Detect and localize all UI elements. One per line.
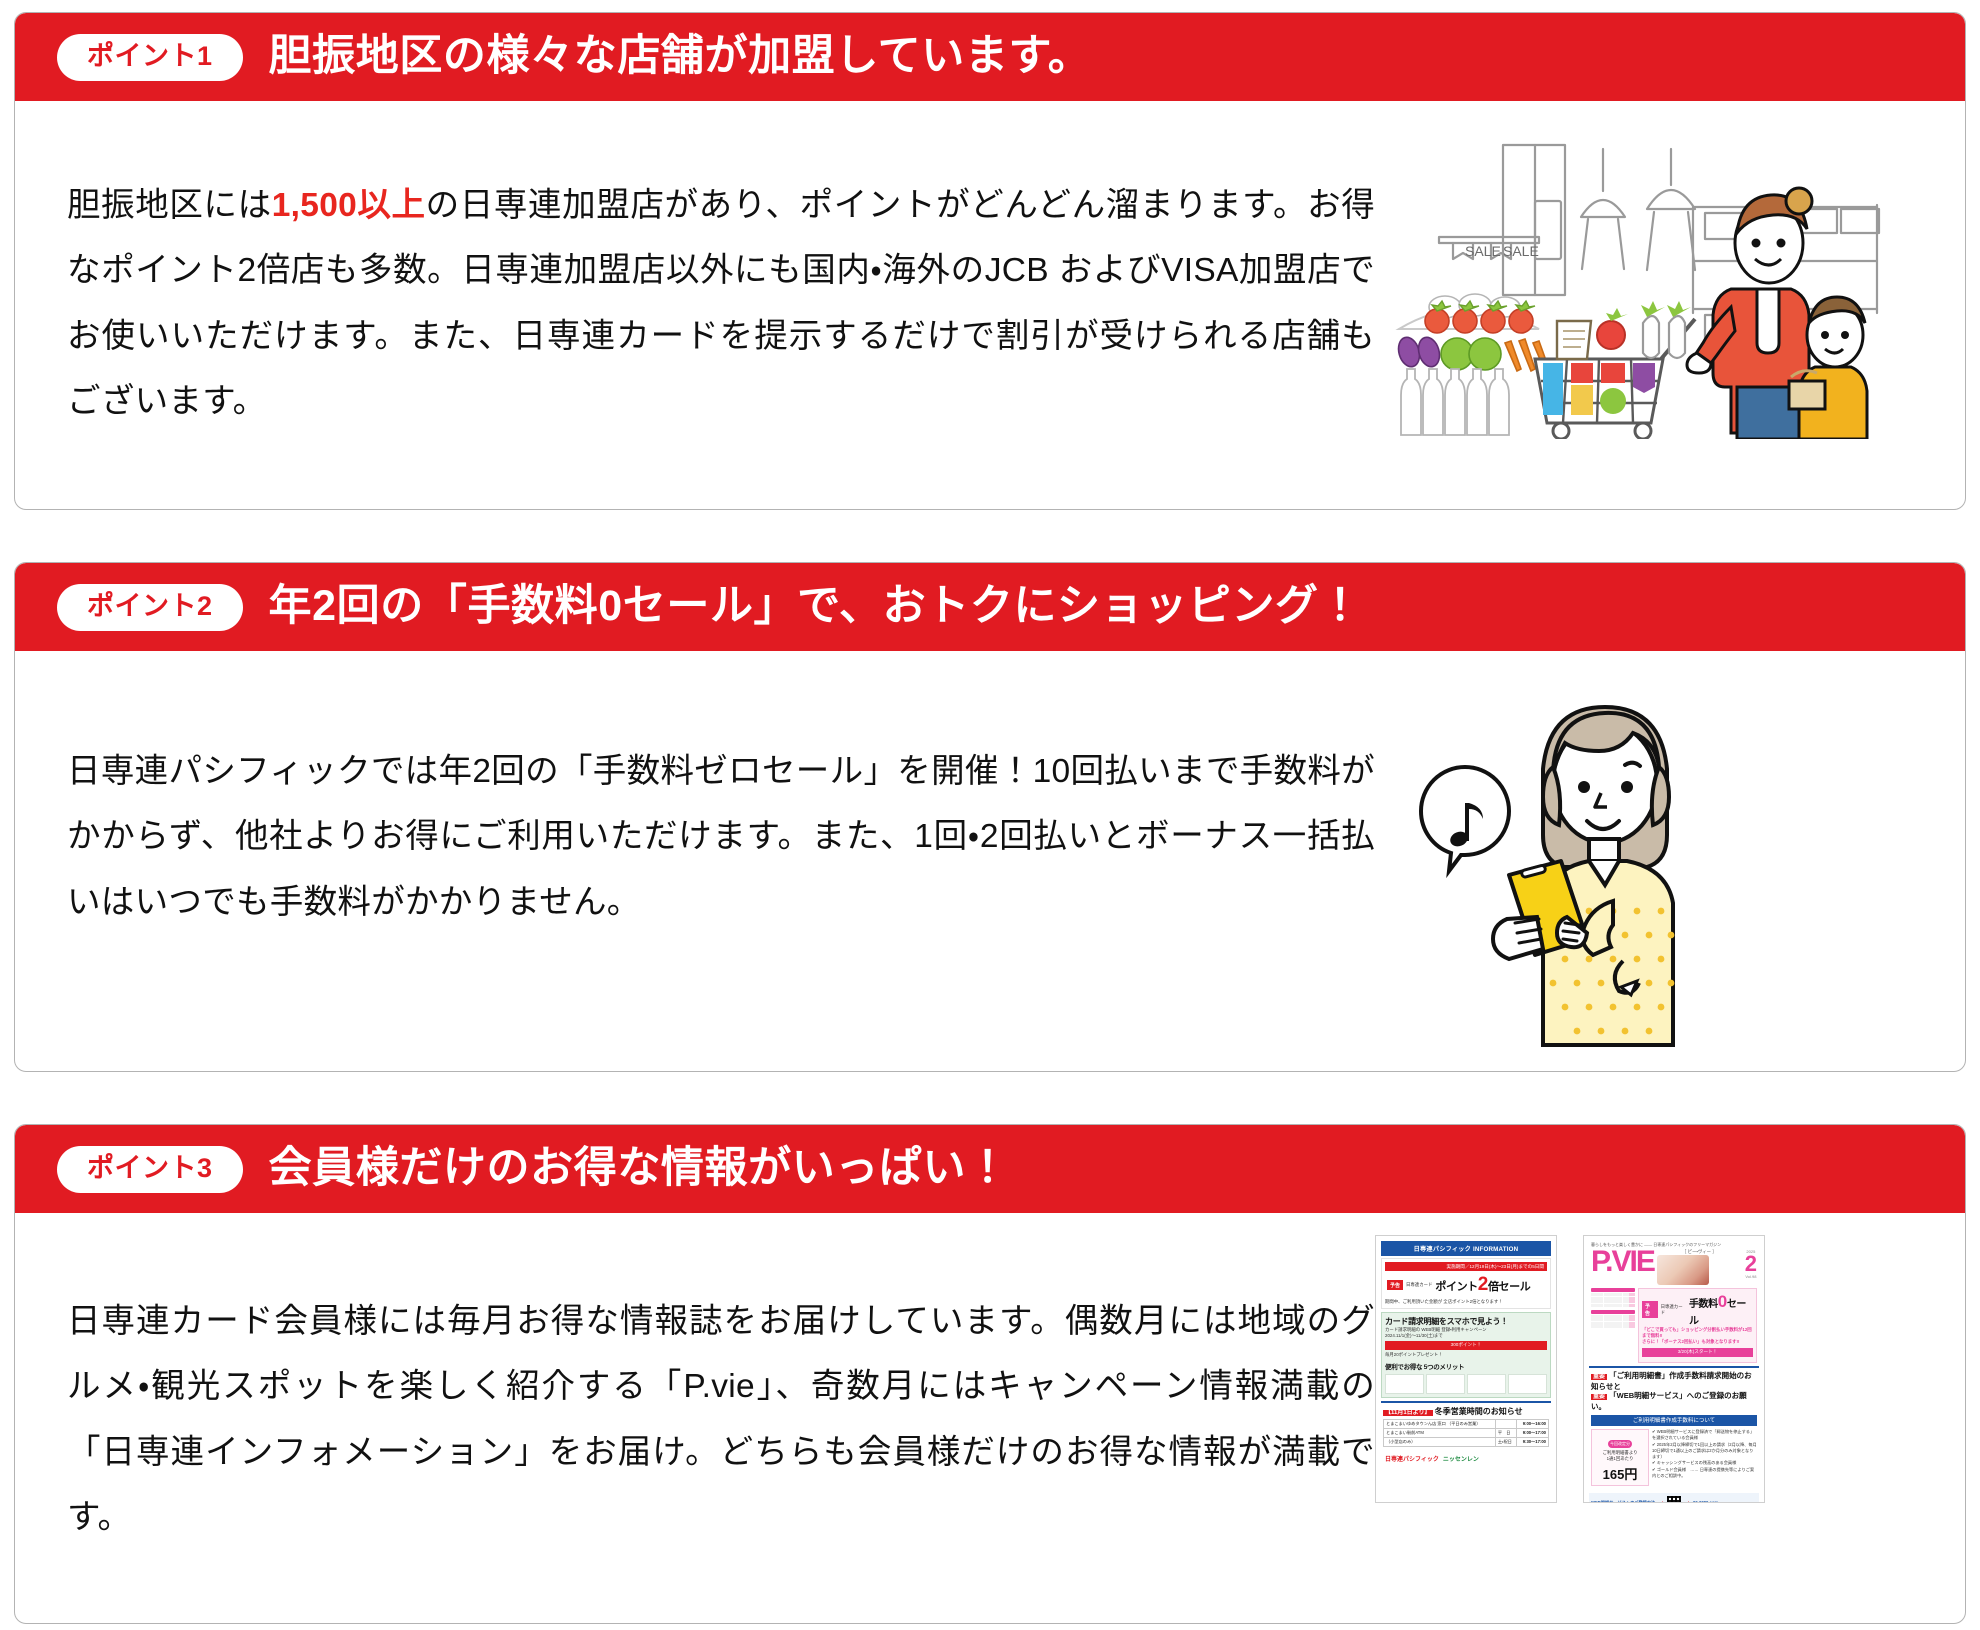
leaflet-information-footer: 日専連パシフィック ニッセンレン — [1381, 1454, 1551, 1463]
point-1-title: 胆振地区の様々な店舗が加盟しています。 — [269, 33, 1092, 80]
qr-code-icon — [1667, 1496, 1681, 1503]
pvie-card-label: 日専連カード — [1661, 1304, 1686, 1316]
check-text: WEB明細サービスに登録済で「郵送物を停止する」を選択されている会員様 — [1652, 1429, 1754, 1440]
pvie-hero-note-2: さらに！「ボーナス2回払い」も対象となります!! — [1642, 1339, 1753, 1345]
pvie-hero-pre: 手数料 — [1689, 1299, 1718, 1310]
pvie-tag: 予告 — [1642, 1301, 1658, 1318]
pvie-info-title: 重要 「ご利用明細書」作成手数料請求開始のお知らせと 重要 「WEB明細サービス… — [1591, 1371, 1757, 1412]
leaflet-information-card-label: 日専連カード — [1406, 1282, 1432, 1288]
point-3-title: 会員様だけのお得な情報がいっぱい！ — [269, 1145, 1010, 1192]
point-3-paragraph: 日専連カード会員様には毎月お得な情報誌をお届けしています。偶数月には地域のグルメ… — [67, 1289, 1375, 1550]
leaflet-information-bonus-badge: 300ポイント！ — [1385, 1341, 1547, 1350]
sale-label-1: SALE — [1465, 243, 1501, 259]
hero-pre: ポイント — [1435, 1281, 1477, 1293]
cal-day — [1610, 1304, 1616, 1307]
pvie-zero-fee-sale: 予告 日専連カード 手数料0セール 「どこで買っても」ショッピング分割払い手数料… — [1638, 1288, 1757, 1363]
check-text: 2025年2月以降締切で1回以上の請求（2月以降、毎月10日締切で1通以上のご請… — [1652, 1442, 1757, 1460]
leaflet-information-tag: 予告 — [1387, 1280, 1403, 1290]
cal-day — [1629, 1304, 1635, 1307]
hours-time: 9:00～17:00 — [1517, 1428, 1549, 1437]
pvie-calendars — [1591, 1288, 1635, 1363]
hours-row: （小型店のみ） 土・祝日 9:30～17:00 — [1384, 1437, 1549, 1446]
point-3-badge: ポイント3 — [57, 1146, 243, 1193]
cal-day — [1623, 1325, 1629, 1328]
cal-day — [1616, 1325, 1622, 1328]
point-card-2: ポイント2 年2回の「手数料0セール」で、おトクにショッピング！ 日専連パシフィ… — [14, 562, 1966, 1072]
leaflet-pvie-calendar-and-sale: 予告 日専連カード 手数料0セール 「どこで買っても」ショッピング分割払い手数料… — [1589, 1285, 1759, 1363]
hours-note — [1495, 1419, 1516, 1428]
hours-row: とまこまい駅前ATM 平 日 9:00～17:00 — [1384, 1428, 1549, 1437]
cal-day — [1597, 1325, 1603, 1328]
hours-place: とまこまい駅前ATM — [1384, 1428, 1496, 1437]
point-3-text-block: 日専連カード会員様には毎月お得な情報誌をお届けしています。偶数月には地域のグルメ… — [15, 1213, 1375, 1550]
point-3-illustration-wrap: 日専連パシフィック INFORMATION 実施期間／12月19日(木)～23日… — [1375, 1235, 1765, 1503]
check-text: ゴールド会員様 …… 日専連の提携先等によりご案内とのご相談中。 — [1652, 1467, 1754, 1478]
pvie-check-item: ✔ 2025年2月以降締切で1回以上の請求（2月以降、毎月10日締切で1通以上の… — [1652, 1442, 1757, 1461]
pvie-issue-vol: Vol.98 — [1745, 1274, 1757, 1279]
sale-label-2: SALE — [1503, 243, 1539, 259]
hours-note: 平 日 — [1495, 1428, 1516, 1437]
point-2-title: 年2回の「手数料0セール」で、おトクにショッピング！ — [269, 583, 1363, 630]
point-2-paragraph: 日専連パシフィックでは年2回の「手数料ゼロセール」を開催！10回払いまで手数料が… — [67, 739, 1375, 935]
supermarket-shopping-illustration: SALE SALE — [1375, 109, 1895, 439]
nissenren-pacific-logo: 日専連パシフィック — [1385, 1454, 1439, 1463]
leaflet-information-web-section: カード請求明細をスマホで見よう！ カード請求明細の WEB明細 登録・利用キャン… — [1381, 1312, 1551, 1398]
leaflet-information-hero: 予告 日専連カード ポイント2倍セール — [1385, 1273, 1547, 1299]
pvie-check-item: ✔ ゴールド会員様 …… 日専連の提携先等によりご案内とのご相談中。 — [1652, 1467, 1757, 1480]
point-1-paragraph: 胆振地区には1,500以上の日専連加盟店があり、ポイントがどんどん溜まります。お… — [67, 173, 1375, 434]
merit-cell — [1467, 1374, 1506, 1394]
pvie-start-badge: 3/20(木)スタート！ — [1642, 1348, 1753, 1357]
pvie-check-item: ✔ WEB明細サービスに登録済で「郵送物を停止する」を選択されている会員様 — [1652, 1429, 1757, 1442]
arrow-right-icon-2: ➡ — [1684, 1499, 1690, 1503]
pvie-zero-hero: 予告 日専連カード 手数料0セール — [1642, 1292, 1753, 1327]
cal-day — [1623, 1304, 1629, 1307]
pvie-logo: P.VIE — [1591, 1249, 1654, 1275]
pvie-hero-big: 0 — [1718, 1292, 1727, 1311]
point-1-text-pre: 胆振地区には — [67, 187, 272, 224]
pvie-registration-footer: WEB明細サービスへのご登録方法 ➡ ➡ 03-2080.com — [1589, 1493, 1759, 1503]
cal-day — [1616, 1304, 1622, 1307]
leaflet-information-merit-grid — [1385, 1374, 1547, 1394]
pvie-fee-sub: 1通1回あたり — [1594, 1456, 1646, 1462]
leaflet-information-merits-title: 便利でお得な 5つのメリット — [1385, 1361, 1547, 1371]
point-2-header: ポイント2 年2回の「手数料0セール」で、おトクにショッピング！ — [15, 563, 1965, 651]
notice-date: 【11月1日より】 — [1383, 1410, 1433, 1416]
pvie-info-title-line1: 重要 「ご利用明細書」作成手数料請求開始のお知らせと — [1591, 1371, 1757, 1392]
pvie-hero-note-1: 「どこで買っても」ショッピング分割払い手数料が12回まで無料!! — [1642, 1327, 1753, 1339]
point-2-badge: ポイント2 — [57, 584, 243, 631]
hours-note: 土・祝日 — [1495, 1437, 1516, 1446]
point-2-illustration-wrap — [1375, 651, 1855, 1066]
leaflet-information-hero-note: 期間中、ご利用頂いた金額が 全店ポイント2倍となります！ — [1385, 1299, 1547, 1305]
hours-place: とまこまいゆめタウンん店 窓口 （平日のみ営業） — [1384, 1419, 1496, 1428]
cal-day — [1597, 1304, 1603, 1307]
hero-big: 2 — [1478, 1274, 1488, 1295]
notice-heading: 冬季営業時間のお知らせ — [1435, 1407, 1523, 1416]
cal-day — [1591, 1304, 1597, 1307]
arrow-right-icon: ➡ — [1658, 1499, 1664, 1503]
point-2-body: 日専連パシフィックでは年2回の「手数料ゼロセール」を開催！10回払いまで手数料が… — [15, 651, 1965, 1071]
pvie-check-list: ✔ WEB明細サービスに登録済で「郵送物を停止する」を選択されている会員様 ✔ … — [1652, 1429, 1757, 1486]
calendar-grid — [1591, 1293, 1635, 1307]
point-3-body: 日専連カード会員様には毎月お得な情報誌をお届けしています。偶数月には地域のグルメ… — [15, 1213, 1965, 1623]
hours-row: とまこまいゆめタウンん店 窓口 （平日のみ営業） 9:00～16:00 — [1384, 1419, 1549, 1428]
point-3-header: ポイント3 会員様だけのお得な情報がいっぱい！ — [15, 1125, 1965, 1213]
music-note-bubble — [1421, 767, 1509, 871]
cal-day — [1591, 1325, 1597, 1328]
cal-day — [1610, 1325, 1616, 1328]
calendar-grid — [1591, 1315, 1635, 1329]
leaflet-information-notice-title: 【11月1日より】 冬季営業時間のお知らせ — [1383, 1406, 1549, 1417]
point-1-badge: ポイント1 — [57, 34, 243, 81]
info-mark-2: 重要 — [1591, 1394, 1607, 1400]
leaflet-information-hours-table: とまこまいゆめタウンん店 窓口 （平日のみ営業） 9:00～16:00 とまこま… — [1383, 1419, 1549, 1447]
leaflet-information-campaign-band: 実施期間／12月19日(木)～23日(月)までの5日間 予告 日専連カード ポイ… — [1381, 1258, 1551, 1309]
leaflet-information-header: 日専連パシフィック INFORMATION — [1381, 1241, 1551, 1256]
calendar-month-2 — [1591, 1310, 1635, 1329]
pvie-info-title-line2: 重要 「WEB明細サービス」へのご登録のお願い。 — [1591, 1391, 1757, 1412]
pvie-info-section: 重要 「ご利用明細書」作成手数料請求開始のお知らせと 重要 「WEB明細サービス… — [1589, 1366, 1759, 1489]
pvie-issue-number: 2 — [1745, 1254, 1757, 1274]
leaflet-pvie[interactable]: 暮らしをもっと楽しく豊かに ―― 日専連パシフィックのフリーマガジン P.VIE… — [1583, 1235, 1765, 1503]
leaflet-information[interactable]: 日専連パシフィック INFORMATION 実施期間／12月19日(木)～23日… — [1375, 1235, 1557, 1503]
leaflet-pvie-masthead: P.VIE ［ ピー・ヴィー ］ 2025 2 Vol.98 — [1589, 1249, 1759, 1285]
point-1-text-block: 胆振地区には1,500以上の日専連加盟店があり、ポイントがどんどん溜まります。お… — [15, 101, 1375, 434]
point-card-3: ポイント3 会員様だけのお得な情報がいっぱい！ 日専連カード会員様には毎月お得な… — [14, 1124, 1966, 1624]
leaflet-information-hero-text: ポイント2倍セール — [1435, 1274, 1530, 1296]
pvie-info-title-text-2: 「WEB明細サービス」へのご登録のお願い。 — [1591, 1391, 1747, 1411]
pvie-info-title-text-1: 「ご利用明細書」作成手数料請求開始のお知らせと — [1591, 1371, 1752, 1391]
leaflet-information-section2-title: カード請求明細をスマホで見よう！ — [1385, 1316, 1547, 1327]
point-2-text-block: 日専連パシフィックでは年2回の「手数料ゼロセール」を開催！10回払いまで手数料が… — [15, 651, 1375, 935]
pvie-fee-amount: 165円 — [1594, 1464, 1646, 1483]
point-1-body: 胆振地区には1,500以上の日専連加盟店があり、ポイントがどんどん溜まります。お… — [15, 101, 1965, 509]
cal-day — [1629, 1325, 1635, 1328]
calendar-month-1 — [1591, 1288, 1635, 1307]
promo-page: ポイント1 胆振地区の様々な店舗が加盟しています。 胆振地区には1,500以上の… — [0, 12, 1980, 1630]
calendar-head — [1591, 1288, 1635, 1292]
check-text: キャッシングサービスの残高のある会員様 — [1657, 1460, 1737, 1465]
pvie-fee-bar: ご利用明細書作成手数料について — [1591, 1415, 1757, 1426]
pvie-fee-columns: 今回改定分 ご利用明細書より 1通1回あたり 165円 ✔ WEB明細サービスに… — [1591, 1429, 1757, 1486]
point-card-1: ポイント1 胆振地区の様々な店舗が加盟しています。 胆振地区には1,500以上の… — [14, 12, 1966, 510]
cal-day — [1604, 1304, 1610, 1307]
calendar-head — [1591, 1310, 1635, 1314]
merit-cell — [1508, 1374, 1547, 1394]
pvie-fee-caption: 今回改定分 — [1608, 1440, 1632, 1448]
leaflet-information-section2-period: 2024.11/1(金)～11/30(土)まで — [1385, 1333, 1547, 1339]
leaflet-information-period: 実施期間／12月19日(木)～23日(月)までの5日間 — [1385, 1262, 1547, 1271]
nissenren-logo: ニッセンレン — [1443, 1454, 1479, 1463]
cal-day — [1604, 1325, 1610, 1328]
hero-post: 倍セール — [1488, 1281, 1530, 1293]
hours-time: 9:30～17:00 — [1517, 1437, 1549, 1446]
point-1-highlight: 1,500以上 — [272, 187, 426, 224]
point-1-header: ポイント1 胆振地区の様々な店舗が加盟しています。 — [15, 13, 1965, 101]
pvie-cover-photo — [1657, 1255, 1709, 1285]
leaflet-information-bonus-sub: 毎月20ポイントプレゼント！ — [1385, 1352, 1547, 1358]
point-1-illustration-wrap: SALE SALE — [1375, 101, 1935, 444]
merit-cell — [1385, 1374, 1424, 1394]
info-mark-1: 重要 — [1591, 1374, 1607, 1380]
leaflet-information-notice: 【11月1日より】 冬季営業時間のお知らせ とまこまいゆめタウンん店 窓口 （平… — [1381, 1401, 1551, 1450]
pvie-footer-url: 03-2080.com — [1693, 1500, 1718, 1503]
woman-with-smartphone-illustration — [1375, 661, 1775, 1061]
hours-place: （小型店のみ） — [1384, 1437, 1496, 1446]
merit-cell — [1426, 1374, 1465, 1394]
pvie-footer-label: WEB明細サービスへのご登録方法 — [1591, 1500, 1655, 1503]
pvie-hero-text: 手数料0セール — [1689, 1292, 1753, 1327]
pvie-fee-box: 今回改定分 ご利用明細書より 1通1回あたり 165円 — [1591, 1429, 1649, 1486]
hours-time: 9:00～16:00 — [1517, 1419, 1549, 1428]
